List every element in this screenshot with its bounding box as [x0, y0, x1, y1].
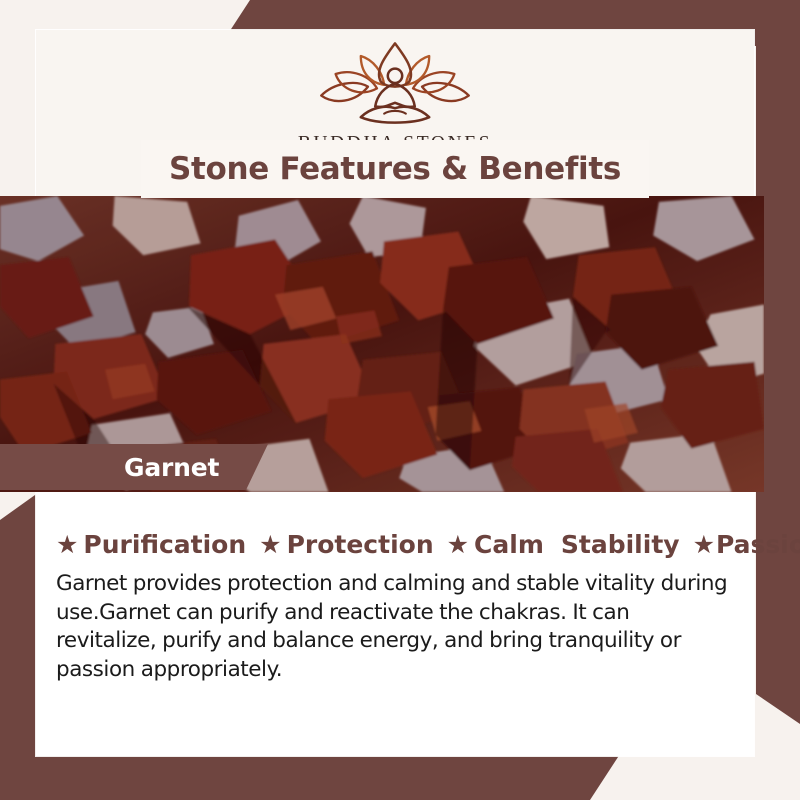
keyword-item-protection: ★ Protection: [259, 530, 433, 559]
keyword-item-stability: Stability: [561, 530, 680, 559]
keyword-item-calm: ★ Calm: [447, 530, 544, 559]
keyword-label: Stability: [561, 530, 680, 559]
star-icon: ★: [56, 532, 78, 557]
lotus-meditation-icon: [305, 38, 485, 130]
title-banner: Stone Features & Benefits: [141, 140, 649, 198]
keyword-item-purification: ★ Purification: [56, 530, 246, 559]
page-title: Stone Features & Benefits: [169, 151, 621, 187]
keyword-label: Purification: [83, 530, 246, 559]
keyword-item-passion: ★ Passion: [693, 530, 800, 559]
keyword-label: Calm: [474, 530, 544, 559]
stone-name-tag: Garnet: [0, 444, 268, 490]
stone-description: Garnet provides protection and calming a…: [42, 570, 748, 684]
stone-name: Garnet: [124, 453, 219, 482]
keyword-list: ★ Purification ★ Protection ★ Calm Stabi…: [42, 530, 748, 559]
content-card: BUDDHA STONES Stone Features & Benefits: [36, 30, 754, 756]
stone-details-panel: ★ Purification ★ Protection ★ Calm Stabi…: [36, 492, 754, 756]
keyword-label: Passion: [716, 530, 800, 559]
keyword-label: Protection: [287, 530, 434, 559]
infographic-page: BUDDHA STONES Stone Features & Benefits: [0, 0, 800, 800]
frame-band-bottom: [0, 754, 620, 800]
star-icon: ★: [693, 532, 715, 557]
star-icon: ★: [447, 532, 469, 557]
star-icon: ★: [259, 532, 281, 557]
